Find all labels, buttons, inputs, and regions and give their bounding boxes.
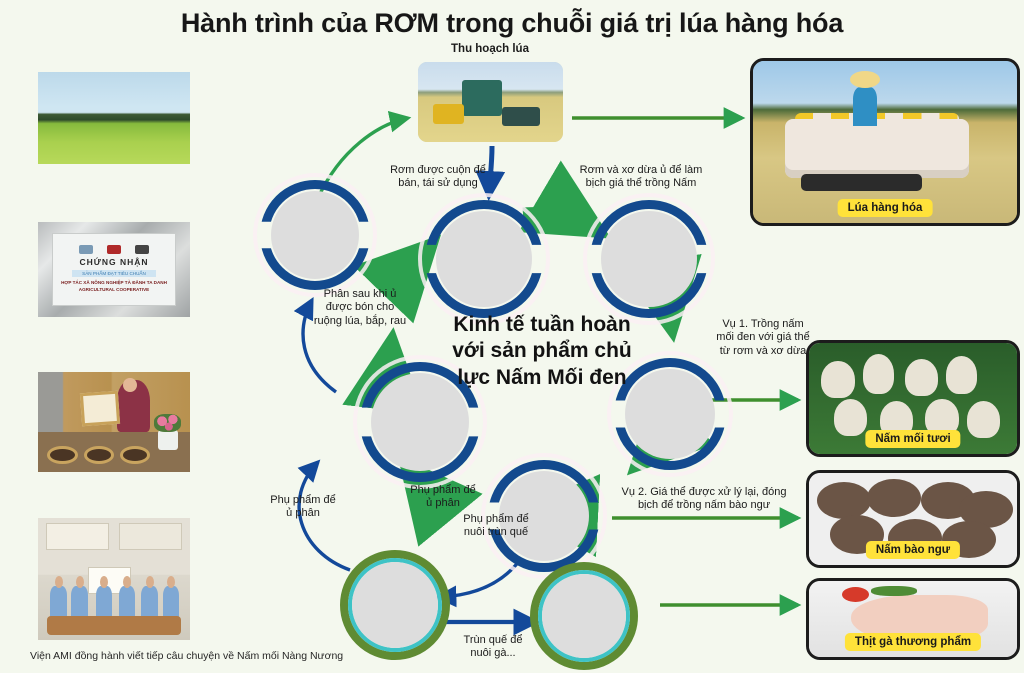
node-rice-plant [260,180,370,290]
card-nam-bao-ngu: Nấm bào ngư [806,470,1020,568]
label-byproduct-worm: Phụ phẩm để nuôi trùn quế [436,513,556,540]
node-worm [340,550,450,660]
photo-rice-field [38,72,190,164]
badge-lua-hang-hoa: Lúa hàng hóa [838,199,933,217]
certificate-title: CHỨNG NHẬN [80,257,149,267]
label-byproduct-compost-center: Phụ phẩm để ủ phân [388,484,498,511]
label-worm-chicken: Trùn quế để nuôi gà... [438,634,548,661]
certificate-org: HỢP TÁC XÃ NÔNG NGHIỆP TÀ ĐÃNH TA DANH A… [53,280,176,294]
card-nam-moi-tuoi: Nấm mối tươi [806,340,1020,457]
card-lua-hang-hoa: Lúa hàng hóa [750,58,1020,226]
woman-products-image [38,372,190,472]
harvest-image [418,62,563,142]
black-mushroom-photo [625,369,715,459]
certificate-subtitle: SẢN PHẨM ĐẠT TIÊU CHUẨN [72,270,156,277]
label-byproduct-compost-left: Phụ phẩm để ủ phân [248,494,358,521]
badge-thit-ga: Thịt gà thương phẩm [845,633,981,651]
photo-harvest [418,62,563,142]
footnote: Viện AMI đồng hành viết tiếp câu chuyện … [30,650,343,662]
card-thit-ga: Thịt gà thương phẩm [806,578,1020,660]
rice-field-image [38,72,190,164]
page-title: Hành trình của RƠM trong chuỗi giá trị l… [0,8,1024,39]
rice-plant-photo [271,191,359,279]
label-crop1: Vụ 1. Trồng nấm mối đen với giá thể từ r… [700,318,826,358]
substrate-bag-photo [601,211,697,307]
center-headline: Kinh tế tuần hoàn với sản phẩm chủ lực N… [452,312,632,391]
label-harvest: Thu hoạch lúa [400,42,580,56]
photo-certificate: CHỨNG NHẬN SẢN PHẨM ĐẠT TIÊU CHUẨN HỢP T… [38,222,190,317]
label-straw-coir: Rơm và xơ dừa ủ để làm bịch giá thể trồn… [558,164,724,191]
badge-nam-bao-ngu: Nấm bào ngư [866,541,960,559]
straw-roll-photo [436,211,532,307]
chicken-photo [542,574,626,658]
photo-woman-products [38,372,190,472]
node-substrate-bags [590,200,708,318]
certificate-logos [79,245,149,254]
badge-nam-moi-tuoi: Nấm mối tươi [865,430,960,448]
meeting-image [38,518,190,640]
infographic-canvas: Hành trình của RƠM trong chuỗi giá trị l… [0,0,1024,673]
label-crop2: Vụ 2. Giá thể được xử lý lại, đóng bịch … [604,486,804,513]
label-compost-applied: Phân sau khi ủ được bón cho ruộng lúa, b… [296,288,424,328]
certificate-image: CHỨNG NHẬN SẢN PHẨM ĐẠT TIÊU CHUẨN HỢP T… [38,222,190,317]
worm-photo [352,562,438,648]
node-straw-roll [425,200,543,318]
label-straw-rolled: Rơm được cuộn để bán, tái sử dụng [368,164,508,191]
photo-meeting [38,518,190,640]
